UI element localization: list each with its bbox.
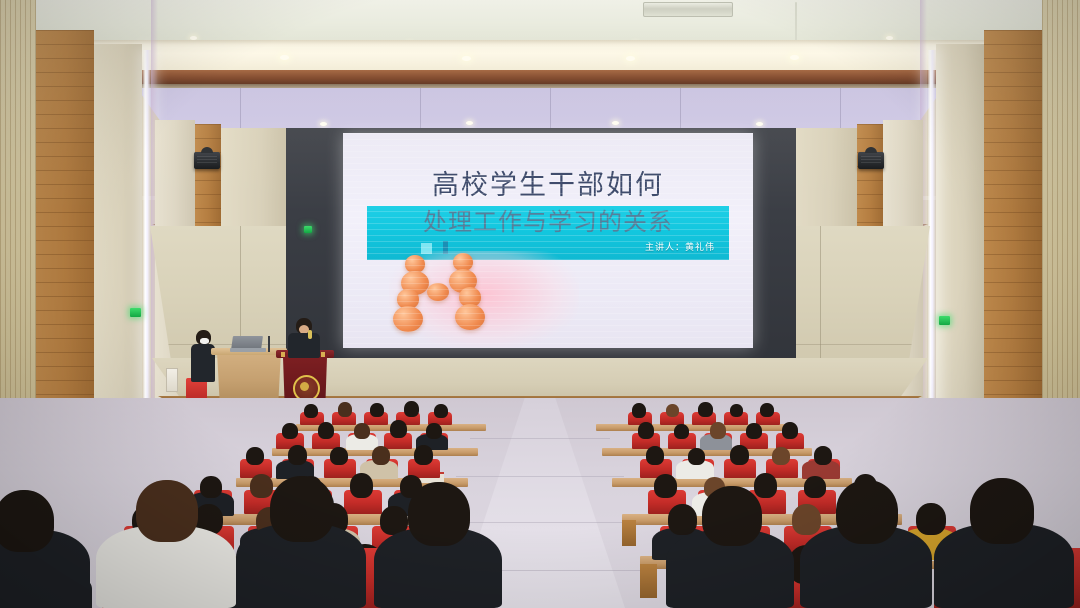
- slide-main-title: 高校学生干部如何: [343, 163, 753, 202]
- student-head: [654, 474, 677, 498]
- handheld-microphone: [308, 330, 312, 339]
- student-head: [338, 402, 352, 417]
- ceiling-vent-grille: [643, 2, 733, 17]
- student-head: [318, 422, 334, 439]
- student-head: [746, 423, 762, 439]
- recessed-downlight: [462, 56, 471, 61]
- microphone-stand: [268, 336, 270, 352]
- recessed-downlight: [790, 55, 799, 60]
- student-head: [434, 404, 448, 418]
- student-head: [632, 403, 646, 418]
- recessed-downlight: [626, 56, 635, 61]
- recessed-downlight: [466, 121, 473, 125]
- student-head: [250, 474, 273, 498]
- figure-body: [455, 304, 485, 330]
- slide-subtitle: 处理工作与学习的关系: [367, 202, 729, 237]
- floor-tile-line: [470, 438, 610, 439]
- student-head: [288, 445, 307, 465]
- student-head: [792, 504, 821, 535]
- student-head: [970, 478, 1034, 544]
- student-head: [836, 480, 898, 544]
- student-head: [702, 486, 762, 546]
- student-head: [668, 504, 697, 535]
- student-head: [698, 402, 713, 417]
- slide-presenter-label: 主讲人：黄礼伟: [645, 240, 715, 253]
- wall-mounted-loudspeaker: [858, 152, 884, 169]
- student-head: [372, 446, 390, 465]
- student-head: [330, 447, 348, 465]
- desk-end-panel: [640, 564, 657, 598]
- student-audience: [0, 398, 1080, 608]
- student-head: [666, 404, 679, 417]
- student-head: [270, 476, 334, 542]
- student-head: [408, 482, 470, 546]
- wall-mounted-loudspeaker: [194, 152, 220, 169]
- student-head: [404, 401, 419, 417]
- student-head: [390, 420, 407, 438]
- student-head: [730, 445, 749, 465]
- student-head: [772, 447, 790, 465]
- student-head: [646, 446, 664, 465]
- student-head: [414, 445, 433, 465]
- student-head: [354, 423, 370, 439]
- recessed-downlight: [320, 122, 327, 126]
- figure-hands-center: [427, 283, 449, 301]
- floor-tile-line: [440, 522, 640, 523]
- student-head: [688, 448, 705, 465]
- ceiling-soffit: [0, 40, 1080, 74]
- student-head: [674, 424, 689, 439]
- desk-end-panel: [622, 520, 636, 546]
- student-head: [426, 423, 442, 439]
- student-head: [730, 404, 743, 417]
- emergency-exit-sign: [130, 308, 141, 317]
- student-head: [760, 403, 774, 417]
- fire-extinguisher-box: [166, 368, 178, 392]
- student-head: [804, 476, 826, 498]
- student-head: [304, 404, 318, 418]
- student-head: [282, 423, 298, 439]
- student-head: [710, 422, 726, 439]
- emergency-exit-sign: [939, 316, 950, 325]
- ceiling-beam: [0, 70, 1080, 84]
- student-head: [814, 446, 832, 465]
- student-head: [916, 503, 946, 535]
- laptop-base: [230, 348, 266, 352]
- student-head: [638, 422, 654, 439]
- emergency-exit-sign: [304, 226, 312, 233]
- lecture-hall-photo: 高校学生干部如何 处理工作与学习的关系 主讲人：黄礼伟: [0, 0, 1080, 608]
- student-head: [370, 403, 384, 417]
- student-head: [200, 476, 222, 498]
- floor-tile-line: [456, 476, 624, 477]
- recessed-downlight: [756, 122, 763, 126]
- projection-screen: 高校学生干部如何 处理工作与学习的关系 主讲人：黄礼伟: [343, 133, 753, 348]
- laptop-table: [215, 352, 283, 404]
- wall-panel-seam: [820, 226, 821, 376]
- student-head: [246, 447, 264, 465]
- figure-body: [393, 306, 423, 332]
- recessed-downlight: [280, 55, 289, 60]
- student-head: [136, 480, 198, 542]
- student-head: [350, 473, 373, 498]
- presenter-body: [288, 333, 320, 358]
- student-head: [782, 422, 798, 439]
- recessed-downlight: [612, 121, 619, 125]
- student-head: [754, 473, 777, 498]
- student-head: [0, 490, 54, 552]
